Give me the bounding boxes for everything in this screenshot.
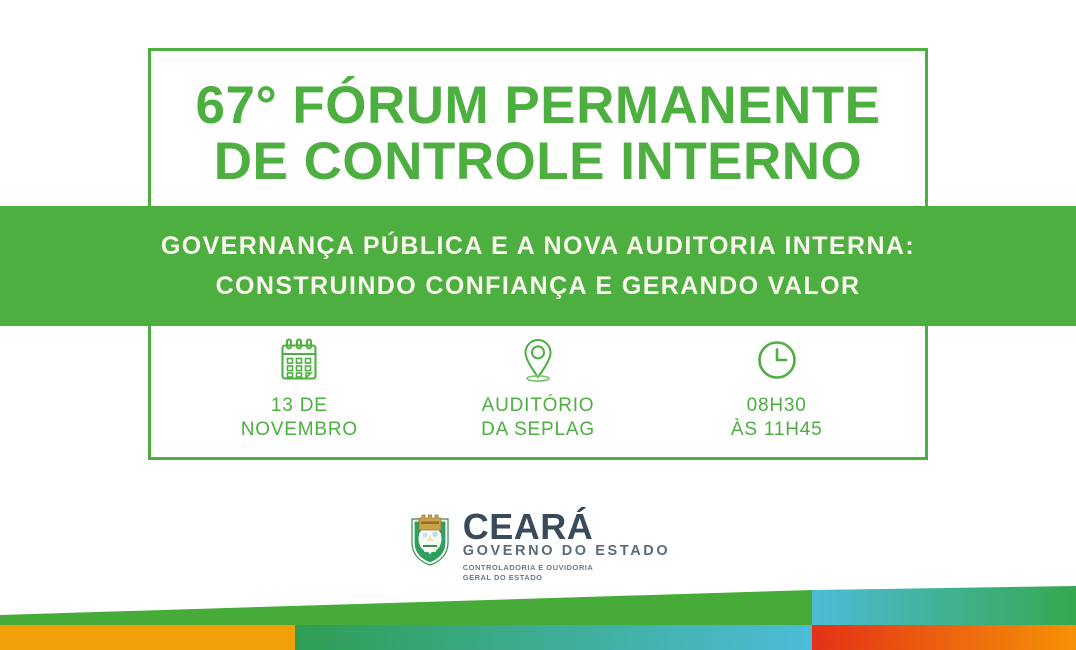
title-line-2: DE CONTROLE INTERNO (148, 134, 928, 190)
ceara-coat-of-arms-icon (406, 505, 454, 574)
event-poster: 67° FÓRUM PERMANENTE DE CONTROLE INTERNO… (0, 0, 1076, 650)
decorative-stripes (0, 585, 1076, 650)
event-time-line-1: 08H30 (747, 394, 807, 418)
logo-department-line-2: GERAL DO ESTADO (463, 573, 670, 583)
title-line-1: 67° FÓRUM PERMANENTE (148, 78, 928, 134)
event-location-item: AUDITÓRIO DA SEPLAG (419, 336, 658, 442)
organization-logo: CEARÁ GOVERNO DO ESTADO CONTROLADORIA E … (0, 505, 1076, 582)
location-pin-icon (518, 336, 558, 384)
event-details-row: 13 DE NOVEMBRO AUDITÓRIO DA SEPLAG (180, 336, 896, 442)
banner-line-2: CONSTRUINDO CONFIANÇA E GERANDO VALOR (216, 266, 861, 306)
event-date-line-2: NOVEMBRO (241, 418, 358, 442)
logo-government-line: GOVERNO DO ESTADO (463, 543, 670, 560)
logo-department-line-1: CONTROLADORIA E OUVIDORIA (463, 563, 670, 573)
clock-icon (755, 336, 799, 384)
event-location-line-2: DA SEPLAG (481, 418, 595, 442)
calendar-icon (278, 336, 320, 384)
event-location-line-1: AUDITÓRIO (482, 394, 595, 418)
event-date-line-1: 13 DE (271, 394, 328, 418)
page-title: 67° FÓRUM PERMANENTE DE CONTROLE INTERNO (148, 78, 928, 190)
logo-state-name: CEARÁ (463, 510, 670, 543)
event-time-line-2: ÀS 11H45 (731, 418, 823, 442)
subtitle-banner: GOVERNANÇA PÚBLICA E A NOVA AUDITORIA IN… (0, 206, 1076, 326)
event-date-item: 13 DE NOVEMBRO (180, 336, 419, 442)
event-time-item: 08H30 ÀS 11H45 (657, 336, 896, 442)
banner-line-1: GOVERNANÇA PÚBLICA E A NOVA AUDITORIA IN… (161, 226, 915, 266)
